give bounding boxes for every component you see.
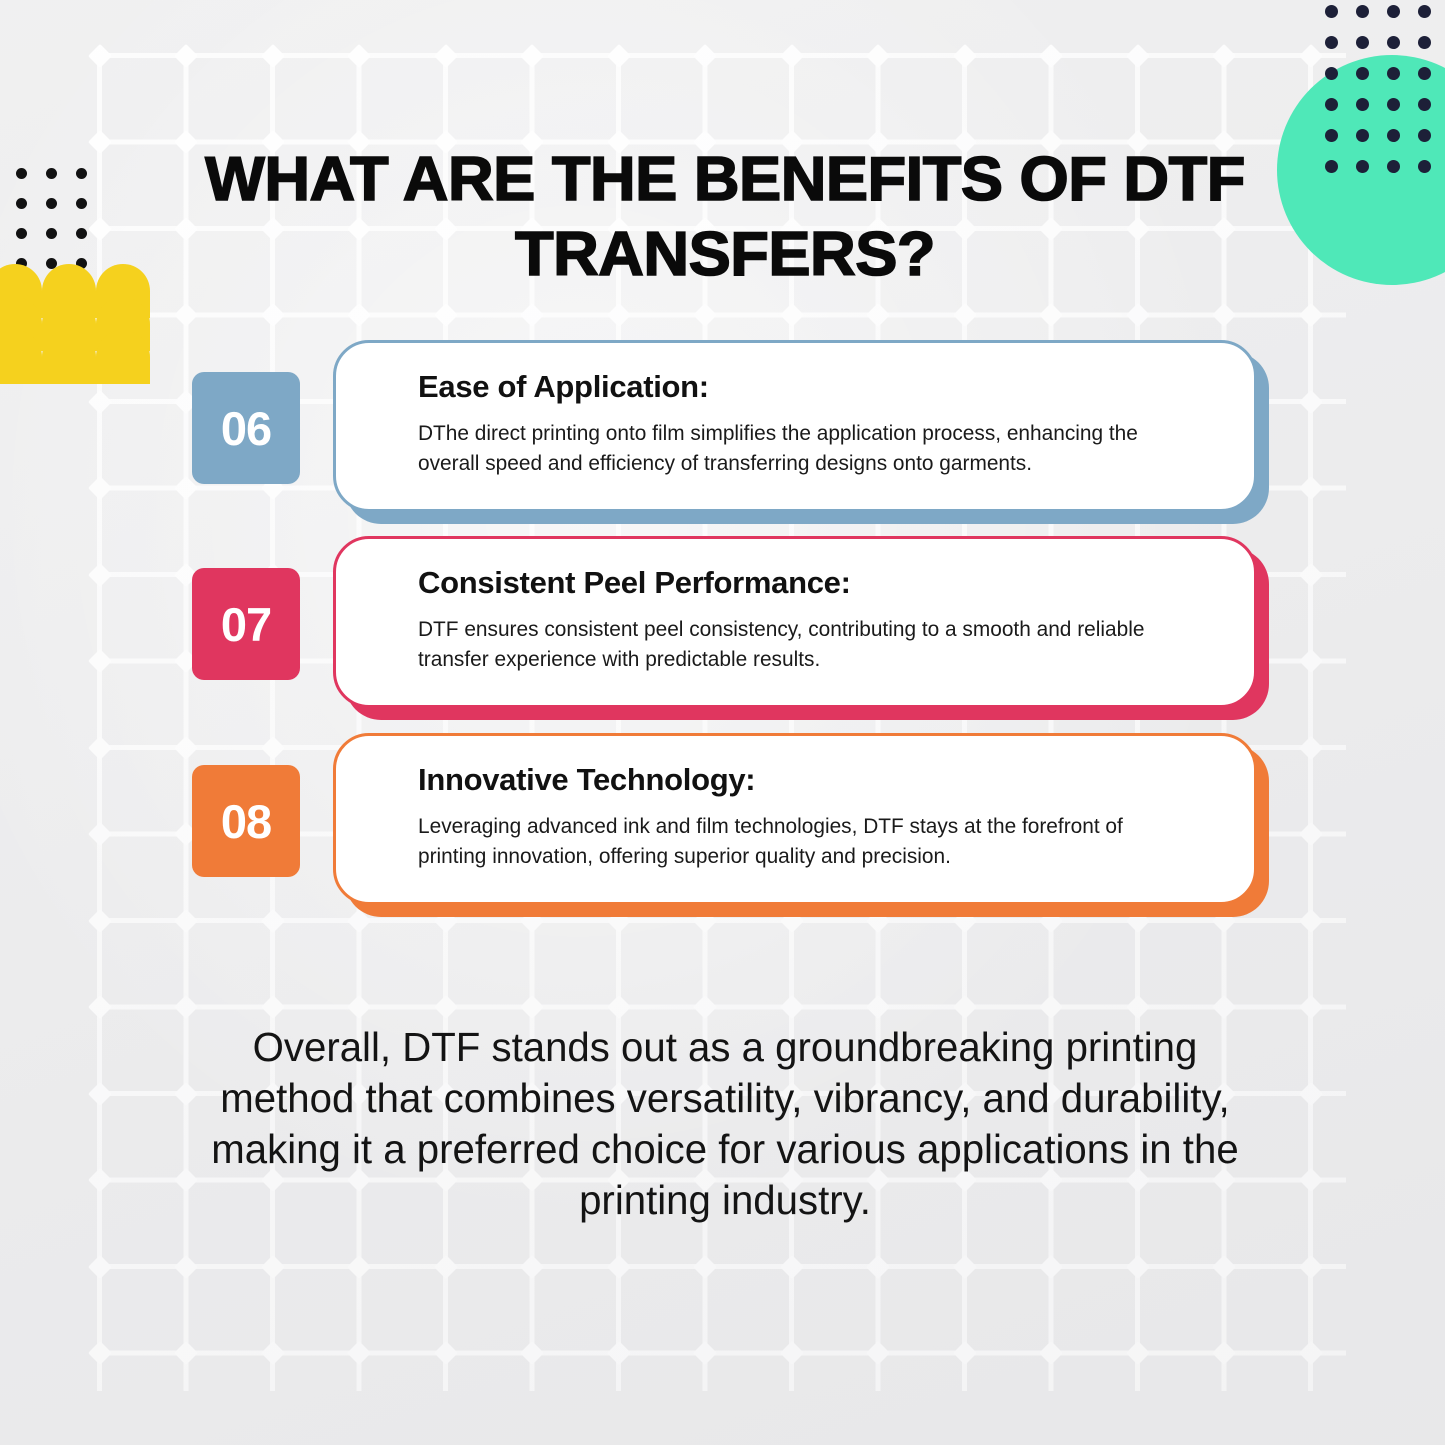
benefit-body-07: DTF ensures consistent peel consistency,… (418, 614, 1196, 674)
benefit-card-07[interactable]: Consistent Peel Performance: DTF ensures… (333, 536, 1257, 708)
page-title: WHAT ARE THE BENEFITS OF DTF TRANSFERS? (139, 142, 1312, 292)
benefit-card-wrapper-07: Consistent Peel Performance: DTF ensures… (333, 536, 1257, 708)
benefit-row-07: 07 Consistent Peel Performance: DTF ensu… (0, 536, 1445, 716)
benefit-number-07: 07 (221, 597, 271, 652)
benefit-row-08: 08 Innovative Technology: Leveraging adv… (0, 733, 1445, 913)
benefit-number-08: 08 (221, 794, 271, 849)
benefit-heading-08: Innovative Technology: (418, 762, 1220, 798)
benefit-body-06: DThe direct printing onto film simplifie… (418, 418, 1196, 478)
benefit-heading-06: Ease of Application: (418, 369, 1220, 405)
benefit-card-08[interactable]: Innovative Technology: Leveraging advanc… (333, 733, 1257, 905)
benefit-number-badge-07: 07 (192, 568, 300, 680)
benefit-heading-07: Consistent Peel Performance: (418, 565, 1220, 601)
benefit-body-08: Leveraging advanced ink and film technol… (418, 811, 1196, 871)
summary-paragraph: Overall, DTF stands out as a groundbreak… (186, 1022, 1264, 1226)
benefit-row-06: 06 Ease of Application: DThe direct prin… (0, 340, 1445, 520)
benefit-card-06[interactable]: Ease of Application: DThe direct printin… (333, 340, 1257, 512)
benefit-number-badge-06: 06 (192, 372, 300, 484)
benefit-number-badge-08: 08 (192, 765, 300, 877)
benefit-card-wrapper-08: Innovative Technology: Leveraging advanc… (333, 733, 1257, 905)
benefit-card-wrapper-06: Ease of Application: DThe direct printin… (333, 340, 1257, 512)
benefit-number-06: 06 (221, 401, 271, 456)
